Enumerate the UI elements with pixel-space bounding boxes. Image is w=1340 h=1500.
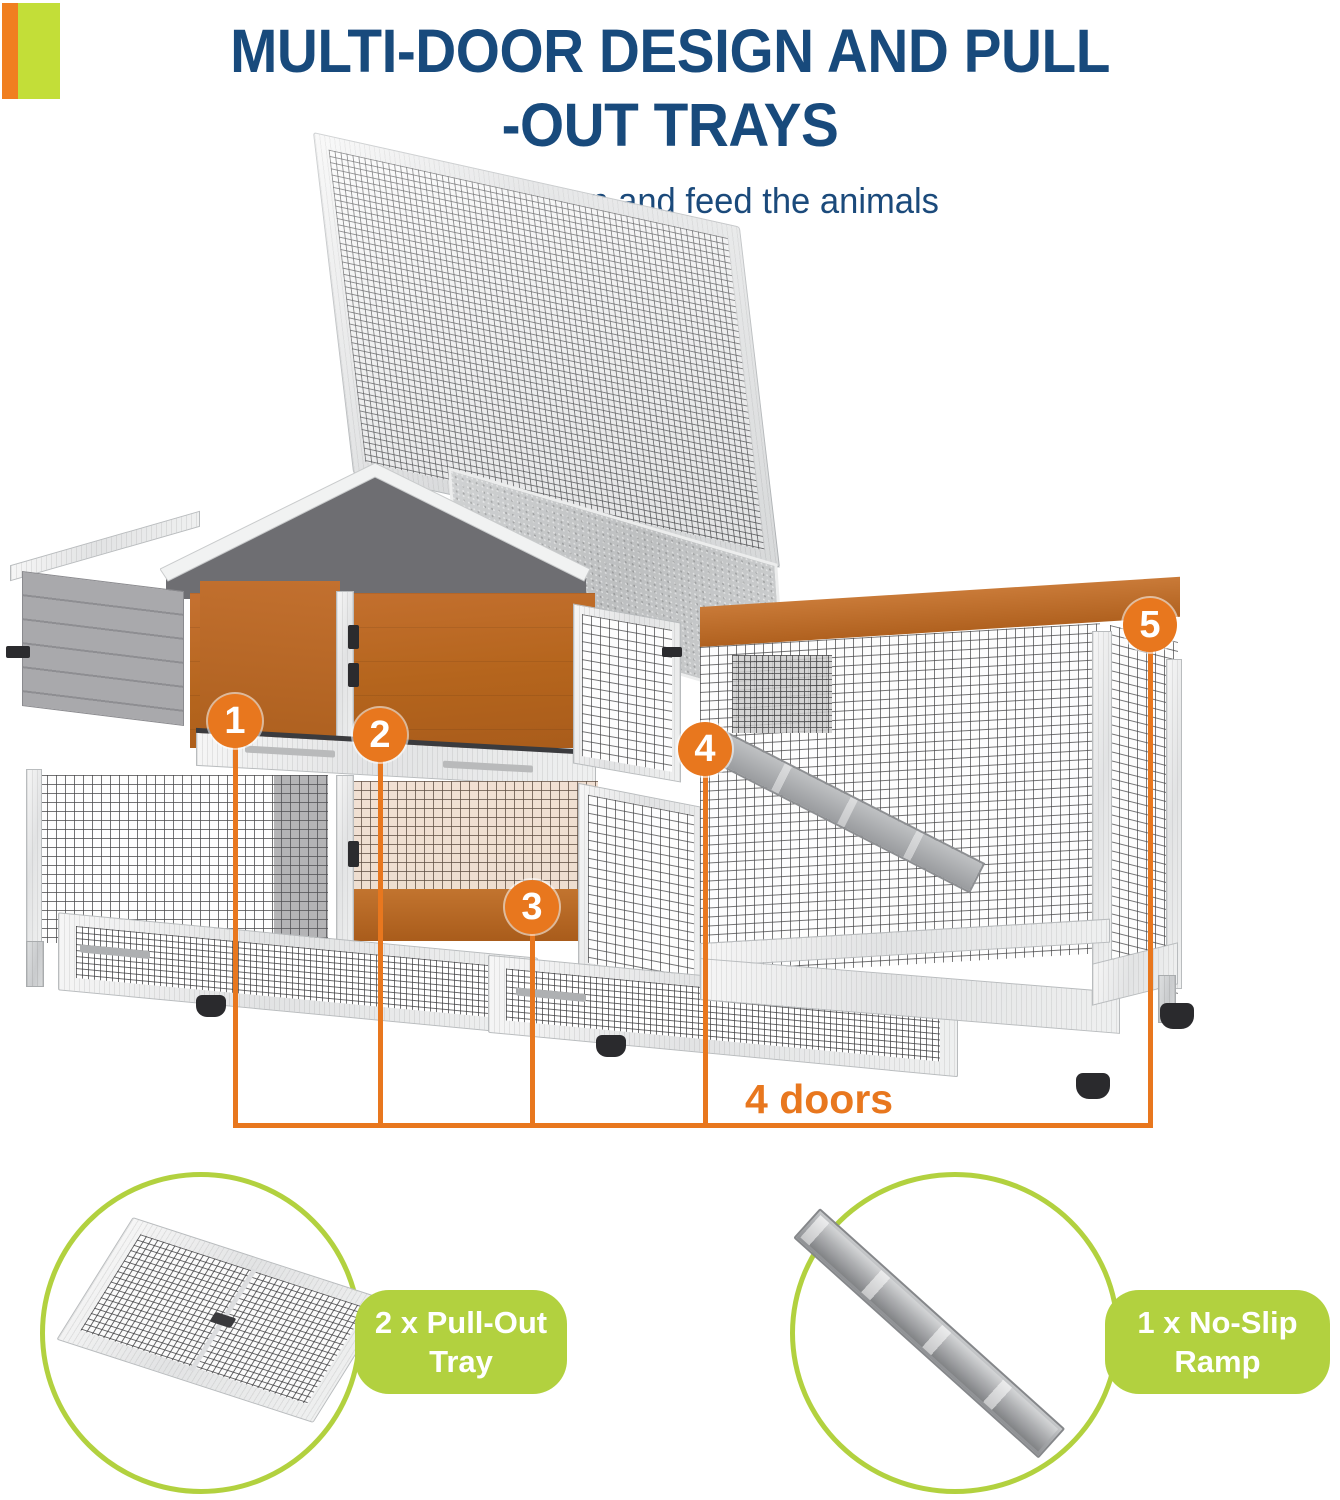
leader-line-4: [703, 770, 708, 1125]
run-corner-post-outer: [1166, 659, 1182, 989]
side-access-door-panel[interactable]: [22, 571, 184, 726]
leader-line-3: [530, 930, 535, 1125]
upper-door-hinge-top: [348, 625, 359, 649]
callout-badge-5[interactable]: 5: [1123, 598, 1177, 652]
leg-front-left: [26, 941, 44, 987]
callout-badge-3[interactable]: 3: [505, 880, 559, 934]
page-title-line-2: -OUT TRAYS: [47, 86, 1293, 164]
page-title-line-1: MULTI-DOOR DESIGN AND PULL: [47, 12, 1293, 90]
leader-line-5: [1148, 640, 1153, 1125]
upper-right-door-handle[interactable]: [662, 647, 682, 657]
leader-line-1: [233, 720, 238, 1125]
upper-mesh-swing-door[interactable]: [573, 603, 681, 782]
feature-card-no-slip-ramp: 1 x No-Slip Ramp: [760, 1168, 1340, 1498]
callout-badge-2[interactable]: 2: [353, 708, 407, 762]
caster-wheel-2: [596, 1035, 626, 1057]
feature-card-pullout-tray: 2 x Pull-Out Tray: [0, 1168, 670, 1498]
run-interior-window: [732, 655, 832, 733]
side-door-latch-handle[interactable]: [6, 646, 30, 658]
upper-door-hinge-bottom: [348, 663, 359, 687]
title-block: MULTI-DOOR DESIGN AND PULL -OUT TRAYS Ea…: [0, 0, 1340, 224]
feature-2-label-line-1: 1 x No-Slip: [1137, 1303, 1297, 1342]
feature-1-label-pill: 2 x Pull-Out Tray: [355, 1290, 567, 1394]
caster-wheel-3: [1076, 1073, 1110, 1099]
feature-2-label-line-2: Ramp: [1137, 1342, 1297, 1381]
right-run-enclosure: [700, 607, 1180, 1007]
header: MULTI-DOOR DESIGN AND PULL -OUT TRAYS Ea…: [0, 0, 1340, 240]
lower-left-frame-post: [26, 769, 42, 951]
lower-orange-compartment: [352, 781, 598, 941]
feature-1-label-line-1: 2 x Pull-Out: [375, 1303, 547, 1342]
caster-wheel-4: [1160, 1003, 1194, 1029]
doors-count-label: 4 doors: [745, 1076, 893, 1123]
feature-2-label-pill: 1 x No-Slip Ramp: [1105, 1290, 1330, 1394]
lower-mesh-swing-door[interactable]: [578, 783, 704, 995]
caster-wheel-1: [196, 995, 226, 1017]
feature-1-label-line-2: Tray: [375, 1342, 547, 1381]
callout-bracket: [233, 1123, 1153, 1128]
callout-badge-1[interactable]: 1: [208, 694, 262, 748]
leader-line-2: [378, 748, 383, 1125]
lower-door-hinge: [348, 841, 359, 867]
callout-badge-4[interactable]: 4: [678, 722, 732, 776]
product-illustration: [0, 235, 1340, 1145]
